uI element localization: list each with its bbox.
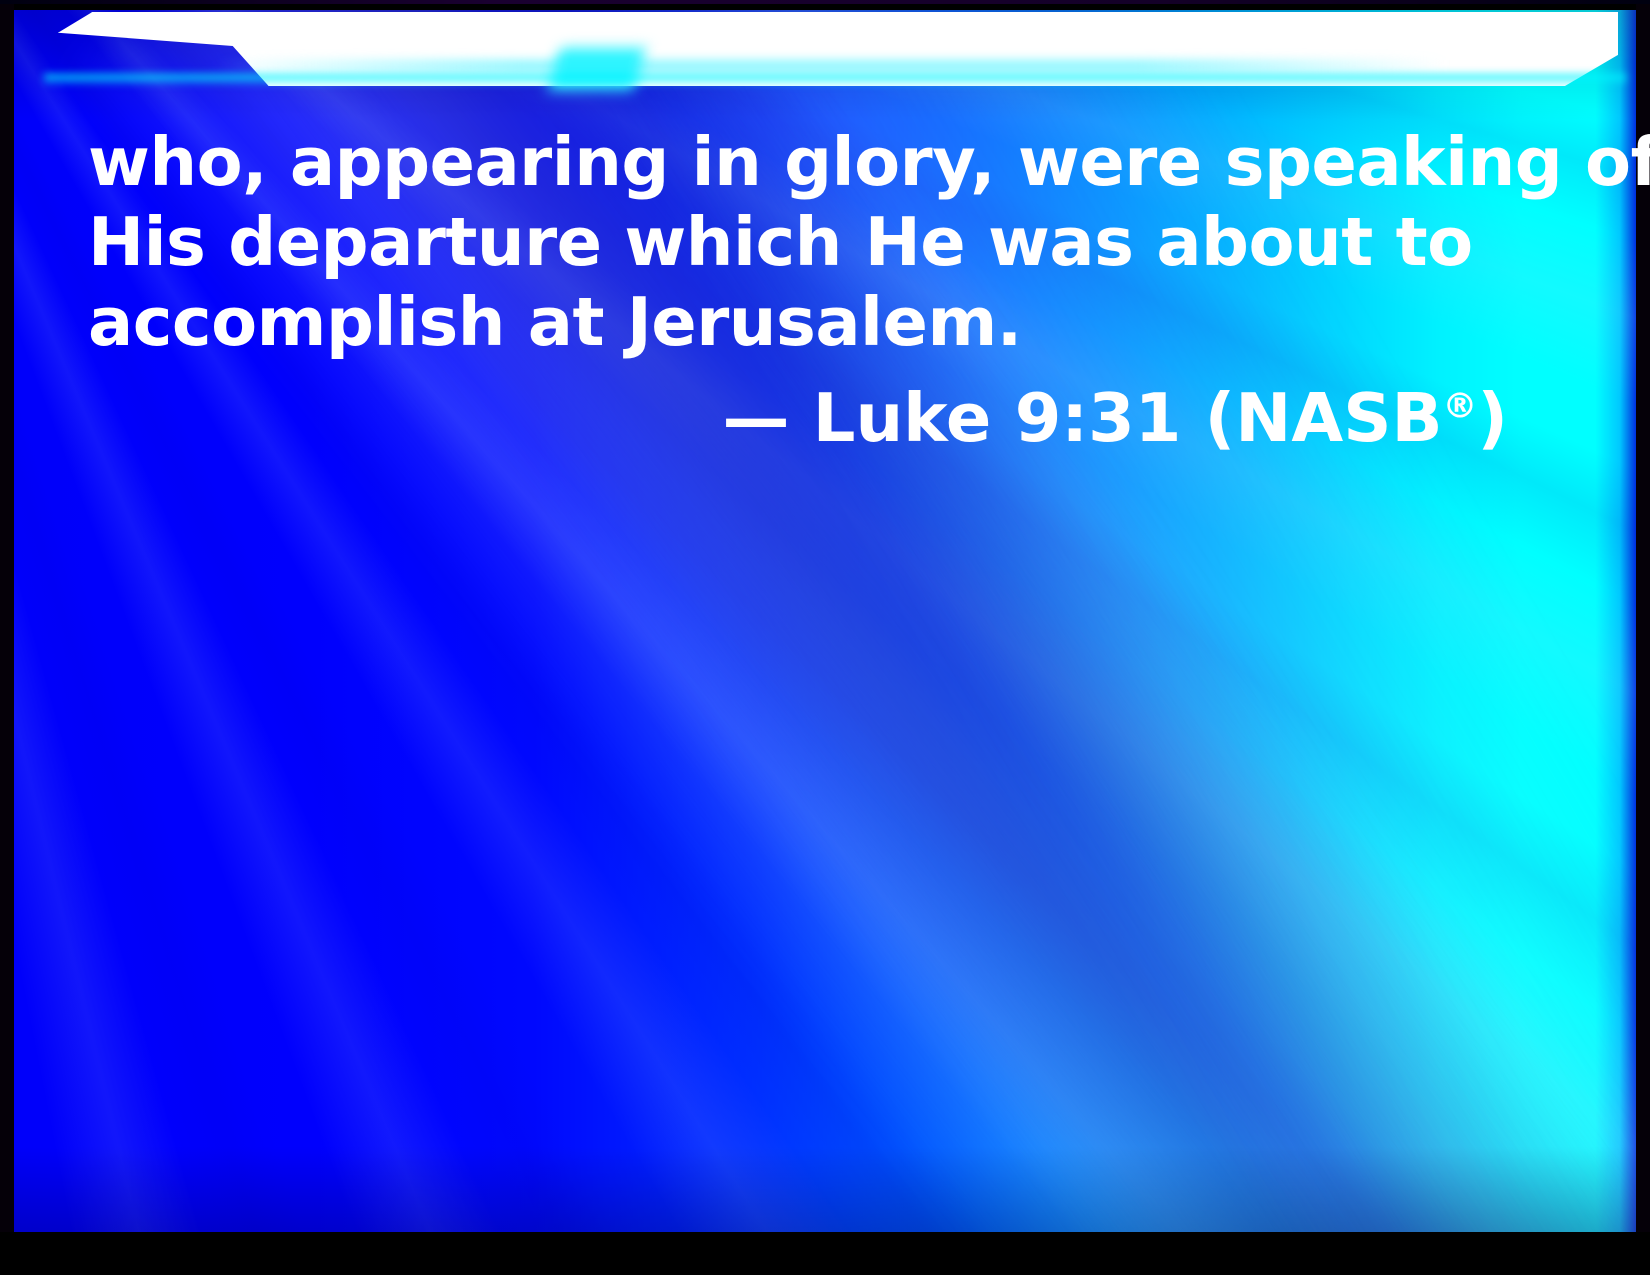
slide-background-canvas [14, 10, 1636, 1232]
verse-slide: who, appearing in glory, were speaking o… [0, 0, 1650, 1275]
frame-border-bottom [0, 1232, 1650, 1275]
frame-border-right [1636, 0, 1650, 1275]
top-band-cyan-streak [214, 60, 1446, 72]
top-band-cyan-edge [44, 74, 1626, 86]
top-light-band [14, 10, 1636, 120]
frame-border-left [0, 0, 14, 1275]
frame-top-hairline [0, 0, 1650, 4]
background-vertical-shade [14, 10, 1636, 1232]
